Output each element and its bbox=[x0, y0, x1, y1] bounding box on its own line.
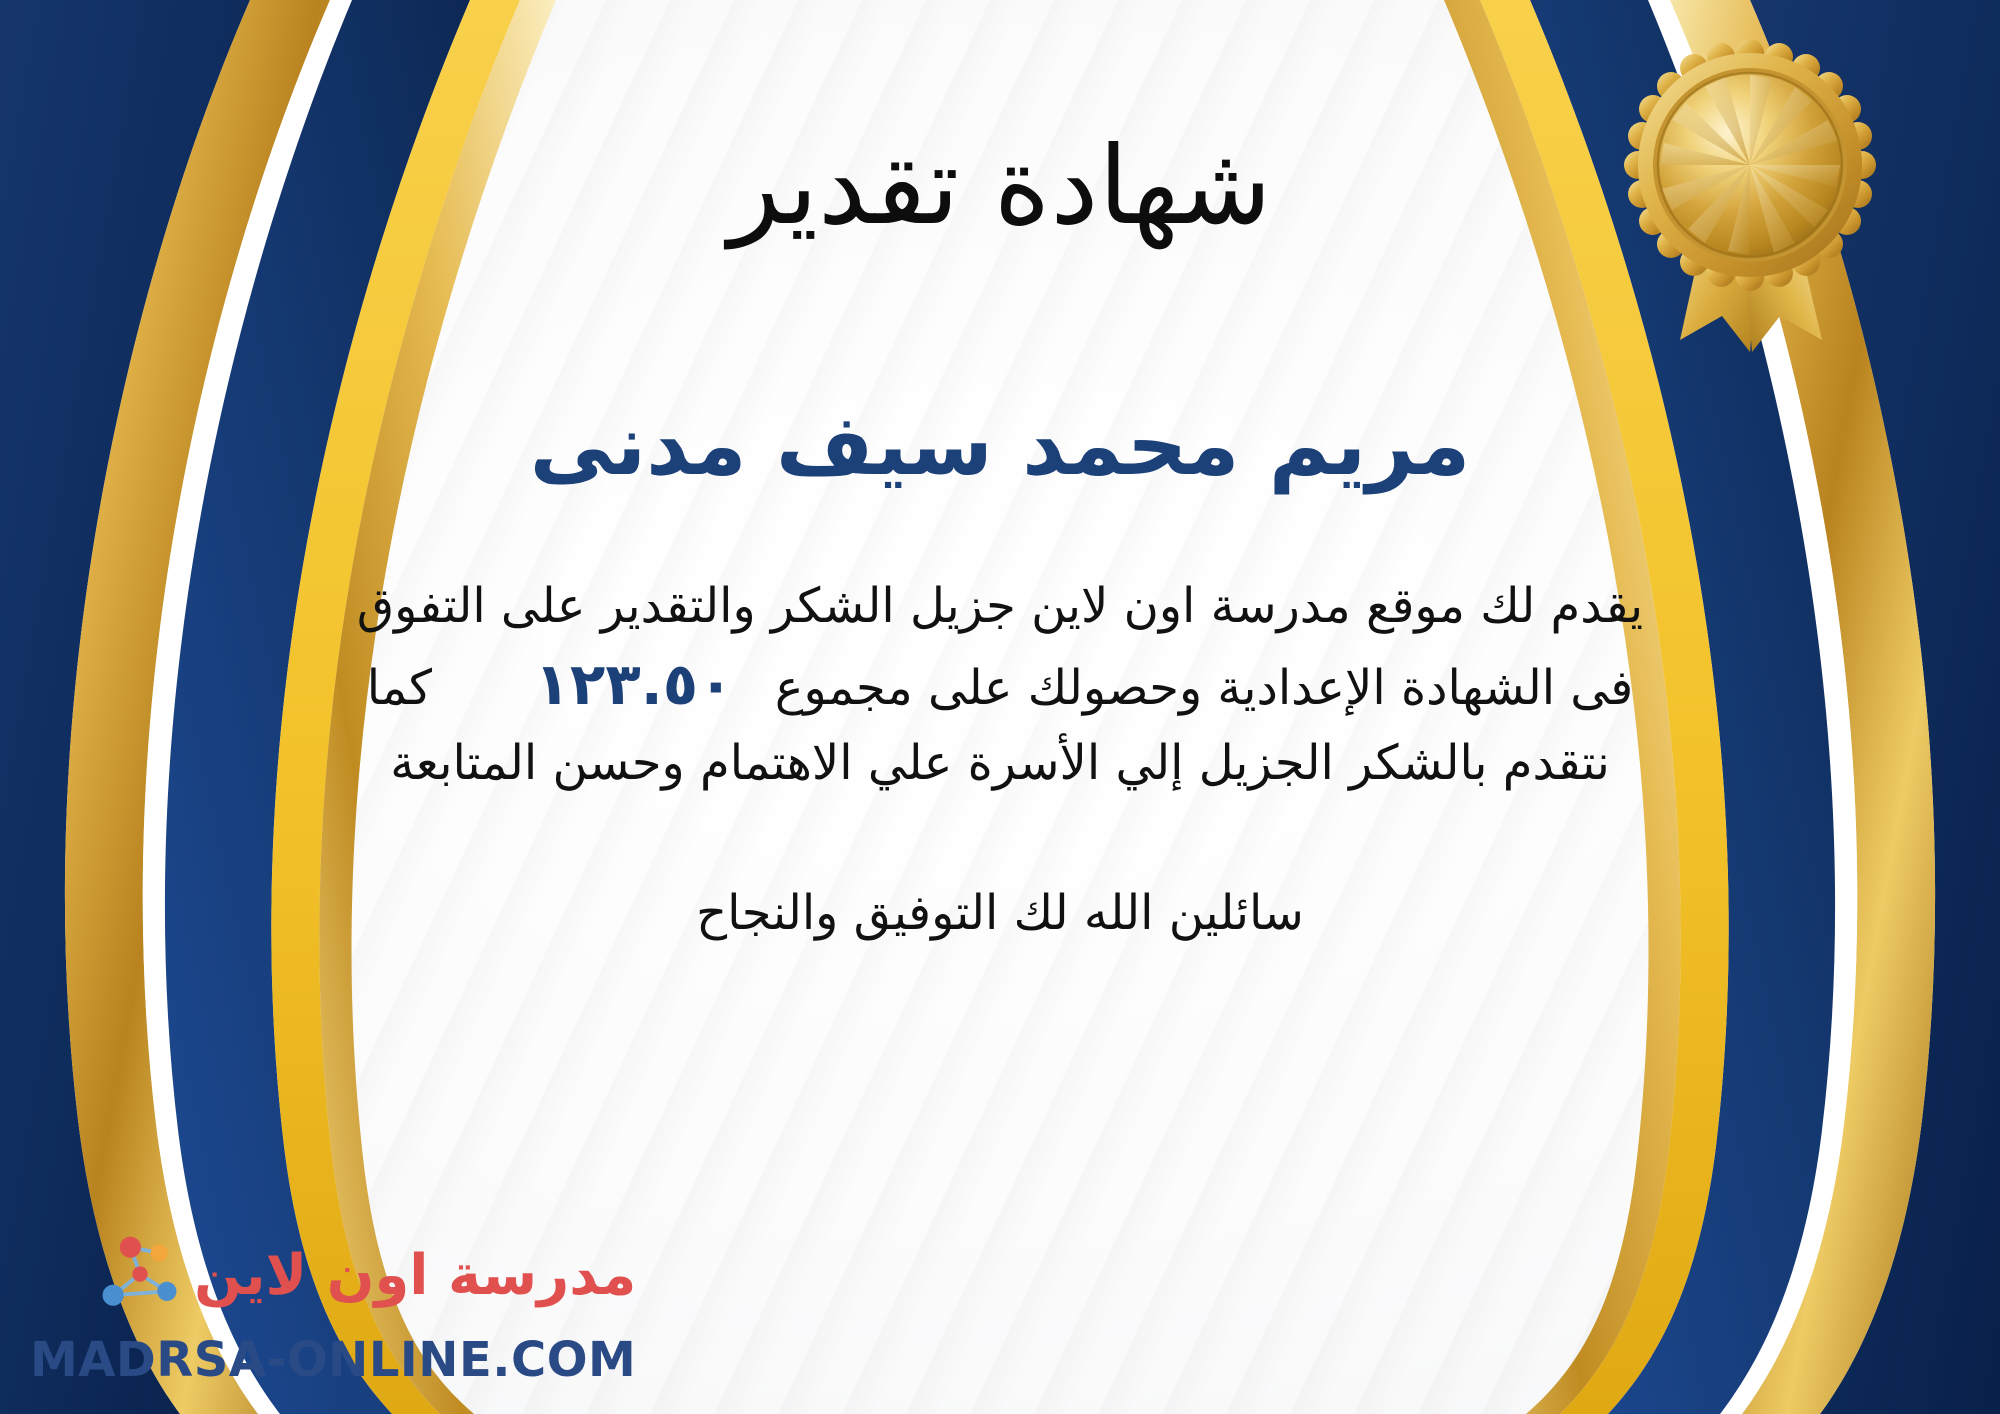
body-line-1: يقدم لك موقع مدرسة اون لاين جزيل الشكر و… bbox=[220, 571, 1780, 642]
recipient-name: مريم محمد سيف مدنى bbox=[0, 397, 2000, 494]
logo-arabic-name: مدرسة اون لاين bbox=[194, 1248, 636, 1304]
body-line-2: فى الشهادة الإعدادية وحصولك على مجموع ١٢… bbox=[220, 642, 1780, 728]
certificate-canvas: شهادة تقدير مريم محمد سيف مدنى يقدم لك م… bbox=[0, 0, 2000, 1414]
logo-url[interactable]: MADRSA-ONLINE.COM bbox=[30, 1336, 636, 1384]
body-line-3: نتقدم بالشكر الجزيل إلي الأسرة علي الاهت… bbox=[220, 728, 1780, 799]
certificate-body: يقدم لك موقع مدرسة اون لاين جزيل الشكر و… bbox=[220, 571, 1780, 799]
score-value: ١٢٣.٥٠ bbox=[509, 650, 760, 718]
body-line-2-suffix: كما bbox=[367, 660, 432, 716]
body-line-2-prefix: فى الشهادة الإعدادية وحصولك على مجموع bbox=[775, 660, 1633, 716]
network-nodes-icon bbox=[92, 1228, 188, 1324]
closing-wish: سائلين الله لك التوفيق والنجاح bbox=[0, 885, 2000, 941]
site-logo[interactable]: مدرسة اون لاين MADRSA-ONLINE.COM bbox=[30, 1228, 636, 1384]
logo-top-row: مدرسة اون لاين bbox=[92, 1228, 636, 1324]
gold-medal-rosette bbox=[1600, 30, 1900, 360]
